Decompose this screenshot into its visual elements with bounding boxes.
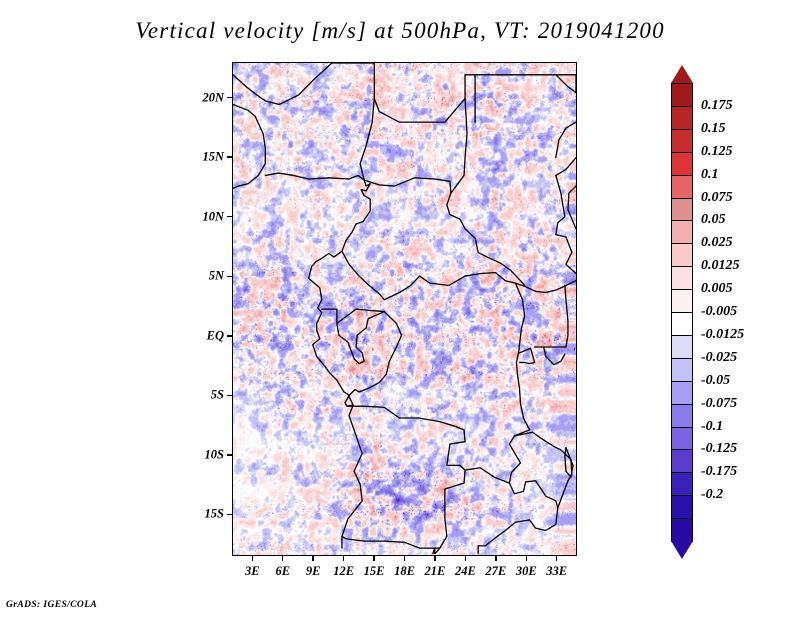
x-axis-tick-label: 9E xyxy=(306,564,321,579)
colorbar-band xyxy=(671,518,693,542)
border-line xyxy=(509,432,571,483)
x-axis-tick-label: 6E xyxy=(275,564,290,579)
colorbar-band xyxy=(671,312,693,336)
y-axis-tick-label: 10S xyxy=(186,447,224,462)
colorbar-tick-label: 0.025 xyxy=(701,235,733,251)
colorbar-band xyxy=(671,404,693,428)
x-axis-tick-mark xyxy=(373,556,375,561)
border-line xyxy=(565,285,568,347)
x-axis-tick-mark xyxy=(495,556,497,561)
y-axis-tick-mark xyxy=(227,335,232,337)
border-line xyxy=(520,348,535,363)
x-axis-tick-mark xyxy=(343,556,345,561)
colorbar-tick-label: 0.125 xyxy=(701,144,733,160)
y-axis-tick-label: EQ xyxy=(186,328,224,343)
y-axis-tick-label: 15S xyxy=(186,507,224,522)
y-axis-tick-mark xyxy=(227,156,232,158)
border-line xyxy=(342,536,440,548)
x-axis-tick-label: 15E xyxy=(364,564,385,579)
y-axis-tick-label: 15N xyxy=(186,150,224,165)
map-plot-area[interactable] xyxy=(232,62,577,556)
border-line xyxy=(347,406,465,470)
colorbar-band xyxy=(671,220,693,244)
colorbar-tick-label: 0.175 xyxy=(701,98,733,114)
colorbar-band xyxy=(671,243,693,267)
x-axis-tick-mark xyxy=(252,556,254,561)
colorbar-tick-label: -0.005 xyxy=(701,304,737,320)
border-line xyxy=(478,508,558,546)
x-axis-tick-mark xyxy=(404,556,406,561)
colorbar-tick-label: -0.175 xyxy=(701,464,737,480)
colorbar-band xyxy=(671,289,693,313)
y-axis-tick-mark xyxy=(227,216,232,218)
colorbar-band xyxy=(671,381,693,405)
colorbar-tick-label: 0.1 xyxy=(701,167,719,183)
x-axis-tick-label: 24E xyxy=(455,564,476,579)
x-axis-tick-mark xyxy=(282,556,284,561)
border-line xyxy=(514,283,529,436)
colorbar[interactable]: 0.1750.150.1250.10.0750.050.0250.01250.0… xyxy=(671,65,693,559)
border-line xyxy=(433,548,435,554)
colorbar-band xyxy=(671,449,693,473)
x-axis-tick-label: 30E xyxy=(516,564,537,579)
colorbar-tick-label: 0.05 xyxy=(701,212,726,228)
border-line xyxy=(556,75,576,93)
page-title: Vertical velocity [m/s] at 500hPa, VT: 2… xyxy=(0,18,800,44)
colorbar-tick-label: 0.0125 xyxy=(701,258,740,274)
colorbar-tick-label: -0.125 xyxy=(701,441,737,457)
colorbar-band xyxy=(671,83,693,107)
colorbar-band xyxy=(671,175,693,199)
x-axis-tick-label: 27E xyxy=(485,564,506,579)
colorbar-band xyxy=(671,152,693,176)
x-axis-tick-mark xyxy=(434,556,436,561)
border-line xyxy=(355,312,401,392)
y-axis-tick-mark xyxy=(227,395,232,397)
colorbar-band xyxy=(671,427,693,451)
y-axis-tick-label: 10N xyxy=(186,209,224,224)
x-axis-tick-label: 12E xyxy=(333,564,354,579)
y-axis-tick-mark xyxy=(227,514,232,516)
country-borders-overlay xyxy=(233,63,576,554)
border-line xyxy=(556,158,576,274)
colorbar-band xyxy=(671,495,693,519)
y-axis-tick-label: 5N xyxy=(186,269,224,284)
border-line xyxy=(233,104,265,188)
y-axis-tick-mark xyxy=(227,276,232,278)
colorbar-tick-label: -0.2 xyxy=(701,487,723,503)
colorbar-band xyxy=(671,266,693,290)
colorbar-band xyxy=(671,106,693,130)
x-axis-tick-mark xyxy=(312,556,314,561)
border-line xyxy=(342,405,362,548)
colorbar-band xyxy=(671,335,693,359)
colorbar-tick-label: -0.1 xyxy=(701,419,723,435)
border-line xyxy=(233,63,332,104)
x-axis-tick-mark xyxy=(465,556,467,561)
colorbar-min-arrow xyxy=(671,541,693,559)
border-line xyxy=(265,173,364,180)
y-axis-tick-mark xyxy=(227,97,232,99)
border-line xyxy=(558,459,572,508)
colorbar-tick-label: -0.0125 xyxy=(701,327,744,343)
colorbar-tick-label: -0.05 xyxy=(701,373,730,389)
border-line xyxy=(337,312,384,364)
border-line xyxy=(309,180,371,278)
colorbar-tick-label: -0.075 xyxy=(701,396,737,412)
x-axis-tick-label: 18E xyxy=(394,564,415,579)
border-line xyxy=(435,470,465,554)
border-line xyxy=(374,63,465,122)
border-line xyxy=(556,122,576,157)
border-line xyxy=(364,178,525,287)
border-line xyxy=(342,251,384,300)
border-line xyxy=(384,272,525,299)
x-axis-tick-label: 21E xyxy=(425,564,446,579)
border-line xyxy=(544,347,565,365)
border-line xyxy=(360,98,374,180)
colorbar-band xyxy=(671,472,693,496)
colorbar-tick-label: 0.005 xyxy=(701,281,733,297)
y-axis-tick-label: 5S xyxy=(186,388,224,403)
colorbar-max-arrow xyxy=(671,65,693,83)
border-line xyxy=(526,281,576,293)
x-axis-tick-mark xyxy=(526,556,528,561)
border-line xyxy=(565,448,573,478)
y-axis-tick-label: 20N xyxy=(186,90,224,105)
x-axis-tick-label: 33E xyxy=(546,564,567,579)
colorbar-band xyxy=(671,198,693,222)
colorbar-tick-label: -0.025 xyxy=(701,350,737,366)
y-axis-tick-mark xyxy=(227,454,232,456)
x-axis-tick-mark xyxy=(556,556,558,561)
border-line xyxy=(568,186,576,229)
x-axis-tick-label: 3E xyxy=(245,564,260,579)
colorbar-band xyxy=(671,129,693,153)
colorbar-tick-label: 0.075 xyxy=(701,190,733,206)
colorbar-band xyxy=(671,358,693,382)
colorbar-tick-label: 0.15 xyxy=(701,121,726,137)
grads-credit: GrADS: IGES/COLA xyxy=(6,600,97,610)
